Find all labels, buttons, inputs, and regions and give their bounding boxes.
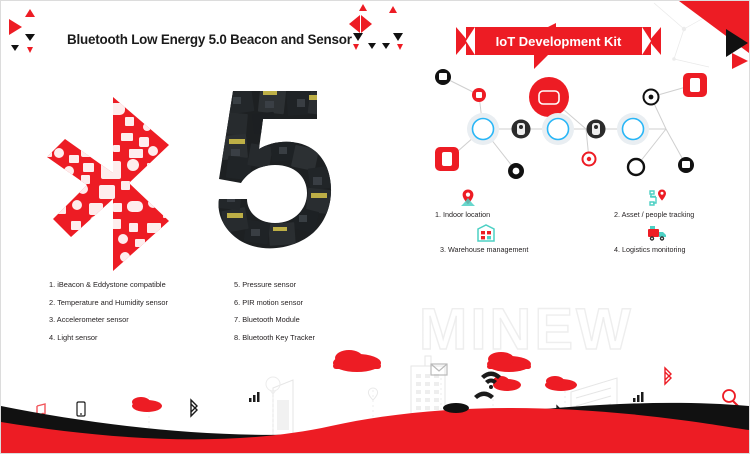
triangle-red-center-up-r <box>389 6 397 13</box>
sensor-node <box>583 153 596 166</box>
triangle-red-center-b1 <box>353 44 359 50</box>
wifi-icon <box>474 392 494 400</box>
application-label: 4. Logistics monitoring <box>614 245 686 254</box>
tag-node <box>683 73 707 97</box>
feature-item: 5. Pressure sensor <box>234 276 315 294</box>
sensor-node <box>435 69 451 85</box>
triangle-red-center-b2 <box>397 44 403 50</box>
ribbon-notch-left <box>466 27 475 55</box>
triangle-black-left-1 <box>25 34 35 41</box>
bluetooth-small-icon <box>665 368 671 384</box>
hub-node <box>467 113 499 145</box>
application-list: 1. Indoor location 2. Asset / people tra… <box>429 187 719 253</box>
iot-mesh-network-diagram <box>421 59 721 184</box>
node-gateway-red <box>529 77 569 117</box>
hub-node <box>617 113 649 145</box>
numeral-five-module-collage <box>213 87 343 267</box>
triangle-red-center-left <box>349 15 360 33</box>
triangle-red-center-right <box>361 15 372 33</box>
feature-item: 7. Bluetooth Module <box>234 311 315 329</box>
delivery-truck-icon <box>646 222 668 244</box>
sensor-node <box>472 88 486 102</box>
page-title: Bluetooth Low Energy 5.0 Beacon and Sens… <box>67 32 352 47</box>
feature-item: 2. Temperature and Humidity sensor <box>49 294 168 312</box>
application-label: 1. Indoor location <box>435 210 490 219</box>
feature-item: 1. iBeacon & Eddystone compatible <box>49 276 168 294</box>
feature-item: 6. PIR motion sensor <box>234 294 315 312</box>
ribbon-body: IoT Development Kit <box>466 27 651 55</box>
location-pin-icon <box>457 187 479 209</box>
sensor-node <box>508 163 524 179</box>
application-label: 2. Asset / people tracking <box>614 210 694 219</box>
feature-item: 4. Light sensor <box>49 329 168 347</box>
beacon-node <box>587 120 606 139</box>
asset-tracking-icon <box>646 187 668 209</box>
triangle-black-center-r <box>393 33 403 41</box>
triangle-black-left-2 <box>11 45 19 51</box>
sensor-node <box>628 159 644 175</box>
triangle-red-left-small <box>25 9 35 17</box>
application-label: 3. Warehouse management <box>440 245 528 254</box>
triangle-black-center-m1 <box>368 43 376 49</box>
feature-item: 3. Accelerometer sensor <box>49 311 168 329</box>
tag-node <box>435 147 459 171</box>
beacon-node <box>512 120 531 139</box>
feature-list-right: 5. Pressure sensor 6. PIR motion sensor … <box>234 276 315 346</box>
feature-item: 8. Bluetooth Key Tracker <box>234 329 315 347</box>
warehouse-icon <box>475 222 497 244</box>
smartphone-icon <box>77 402 85 416</box>
signal-bars-icon <box>633 392 644 402</box>
ribbon-banner: IoT Development Kit <box>456 27 661 55</box>
feature-list-left: 1. iBeacon & Eddystone compatible 2. Tem… <box>49 276 168 346</box>
hub-node <box>542 113 574 145</box>
triangle-black-center-l <box>353 33 363 41</box>
map-markers <box>266 377 378 400</box>
triangle-black-center-m2 <box>382 43 390 49</box>
triangle-red-left-3 <box>27 47 33 53</box>
ribbon-title: IoT Development Kit <box>496 34 622 49</box>
bluetooth-logo-pcb-collage <box>25 93 205 278</box>
hill-mound <box>443 403 469 413</box>
poster-page: Bluetooth Low Energy 5.0 Beacon and Sens… <box>0 0 750 454</box>
smart-city-skyline-waves <box>1 348 749 453</box>
sensor-node <box>678 157 694 173</box>
signal-bars-icon <box>249 392 260 402</box>
ribbon-notch-right <box>642 27 651 55</box>
triangle-red-center-up-l <box>359 4 367 11</box>
triangle-red-left-large <box>9 19 22 35</box>
triangle-red-right-small <box>732 53 748 69</box>
bluetooth-small-icon <box>191 400 197 416</box>
sensor-node <box>644 90 659 105</box>
